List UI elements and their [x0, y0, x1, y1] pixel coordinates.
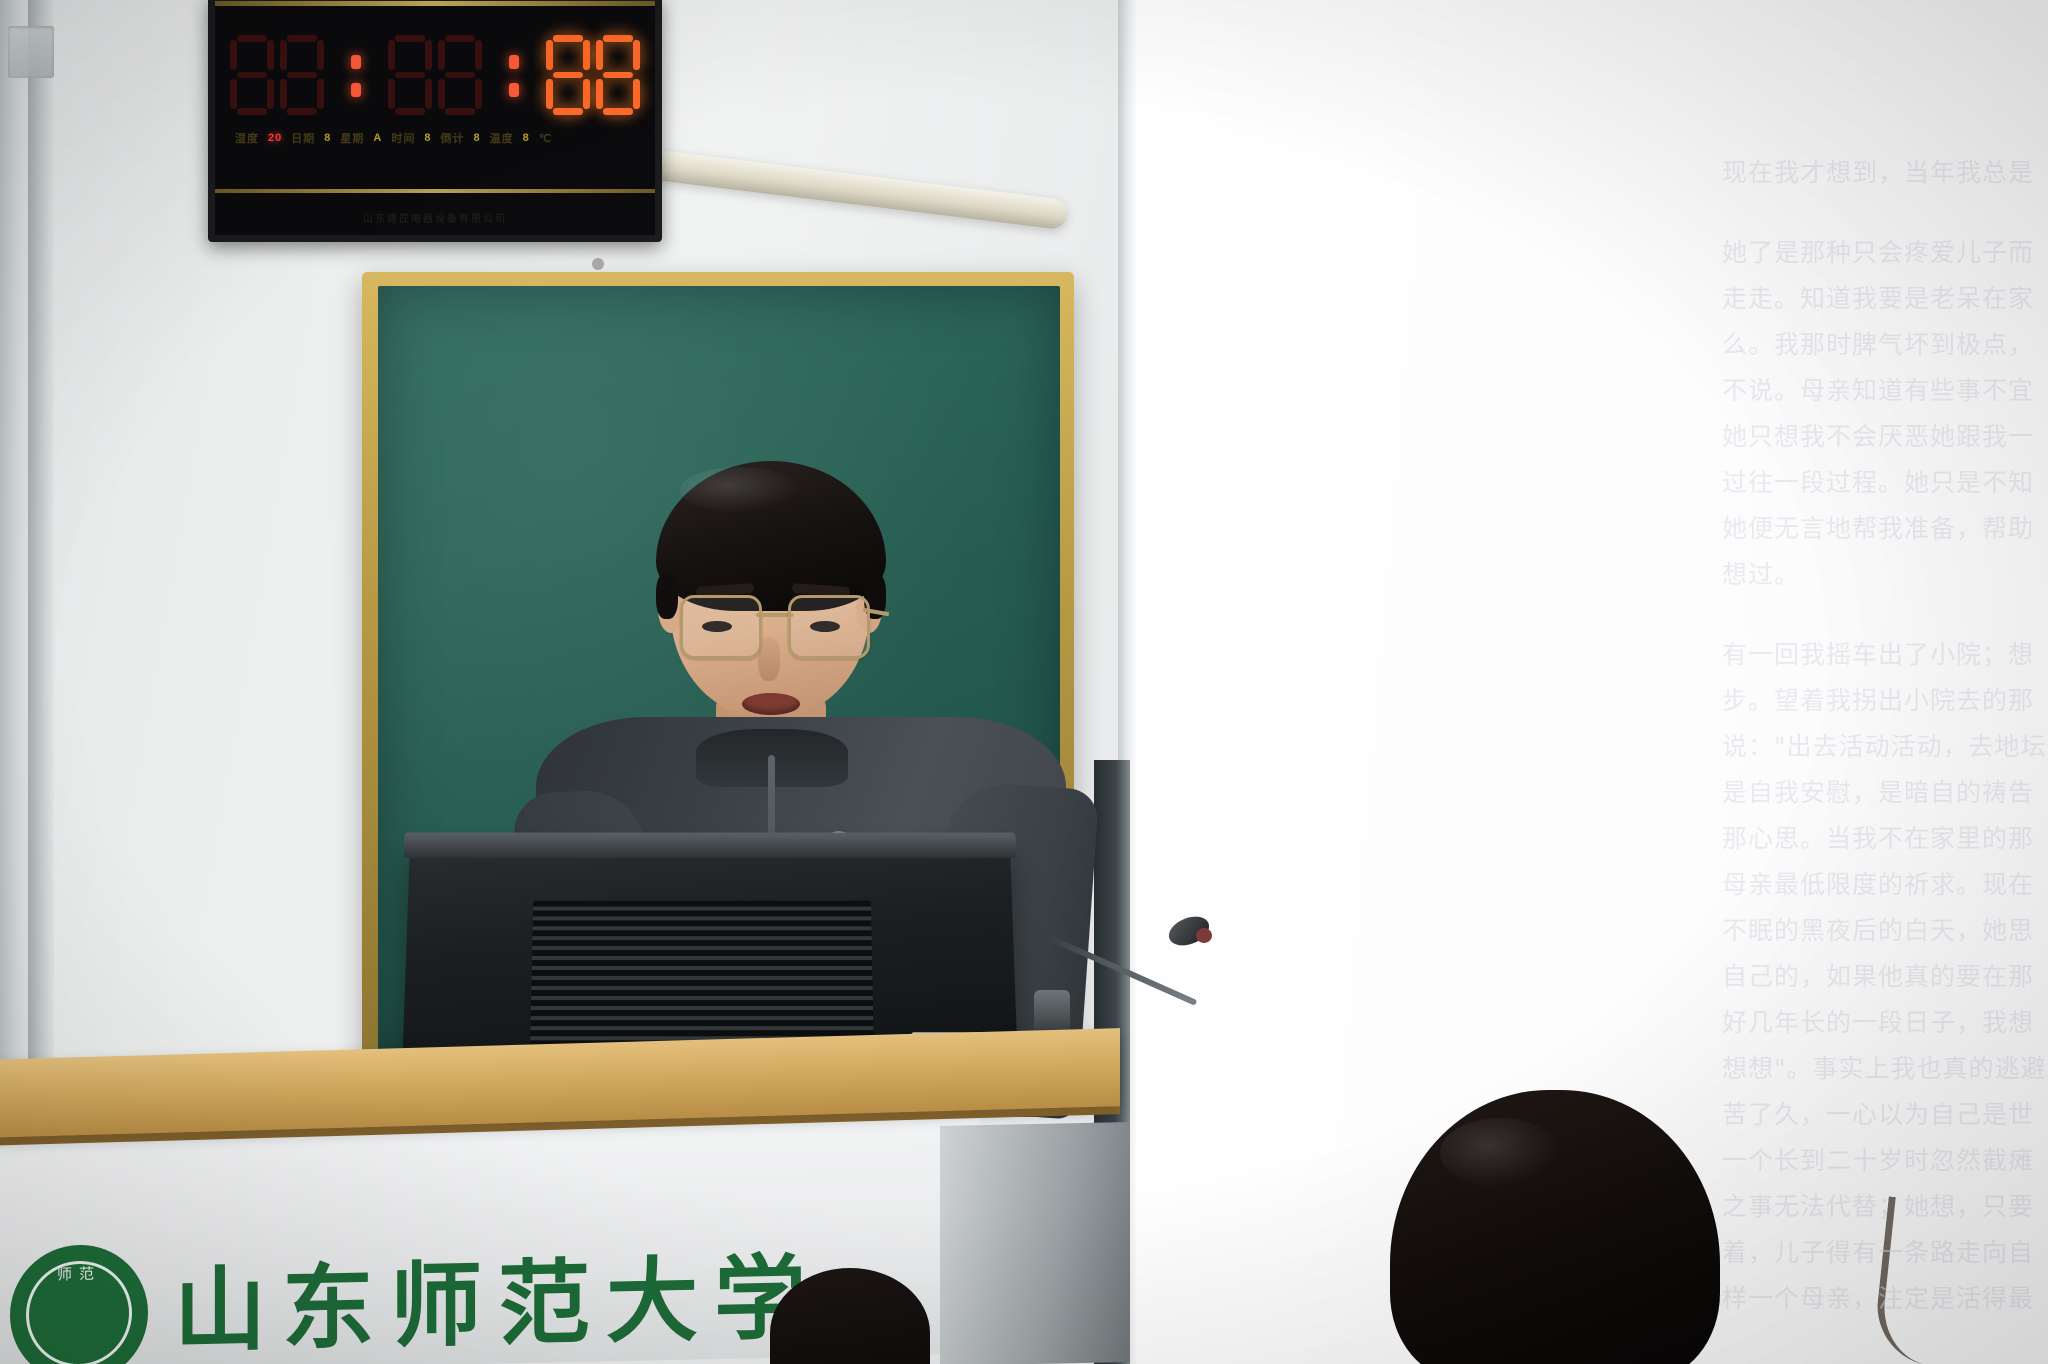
- clock-digit: [280, 35, 324, 115]
- led-wall-clock: 湿度 20 日期 8 星期 A 时间 8 倒计 8 温度 8 ℃ 山东建匠电器设…: [208, 0, 662, 242]
- clock-digit: [230, 35, 274, 115]
- clock-digit: [438, 35, 482, 115]
- clock-label-weekday: 星期: [340, 130, 364, 146]
- clock-colon-icon: [350, 35, 362, 115]
- projected-paragraph-2: 她了是那种只会疼爱儿子而走走。知道我要是老呆在家么。我那时脾气坏到极点，不说。母…: [1722, 230, 2048, 598]
- clock-value-humidity: 20: [268, 132, 282, 144]
- clock-unit-celsius: ℃: [539, 132, 552, 145]
- clock-value-temperature: 8: [523, 132, 530, 144]
- projected-paragraph-1: 现在我才想到，当年我总是: [1722, 150, 2048, 196]
- clock-label-humidity: 湿度: [235, 130, 259, 146]
- podium-side-panel: [940, 1122, 1130, 1364]
- monitor-vent-grille: [530, 901, 874, 1051]
- microphone-windscreen: [1196, 928, 1212, 943]
- clock-label-time: 时间: [391, 130, 415, 146]
- projected-essay-text: 现在我才想到，当年我总是 她了是那种只会疼爱儿子而走走。知道我要是老呆在家么。我…: [1722, 150, 2048, 1322]
- wall-trim-strip-shadow: [28, 0, 54, 1080]
- eyeglass-lens-right: [788, 595, 870, 659]
- clock-value-weekday: A: [373, 132, 382, 144]
- projected-paragraph-3: 有一回我摇车出了小院；想步。望着我拐出小院去的那说："出去活动活动，去地坛是自我…: [1722, 632, 2048, 1322]
- speaker-mouth: [742, 693, 800, 715]
- clock-manufacturer-text: 山东建匠电器设备有限公司: [215, 210, 655, 225]
- speaker-nose: [758, 637, 780, 681]
- clock-label-date: 日期: [291, 130, 315, 146]
- clock-digit: [388, 35, 432, 115]
- clock-digits-row: [215, 27, 655, 123]
- clock-minutes-group: [388, 35, 482, 115]
- classroom-photo-scene: 湿度 20 日期 8 星期 A 时间 8 倒计 8 温度 8 ℃ 山东建匠电器设…: [0, 0, 2048, 1364]
- clock-label-temperature: 温度: [490, 130, 514, 146]
- speaker-hair: [656, 461, 886, 611]
- clock-value-date: 8: [324, 132, 331, 144]
- clock-value-time: 8: [424, 132, 431, 144]
- university-seal-icon: 师范: [10, 1244, 148, 1364]
- speaker-sideburn-left: [656, 573, 678, 619]
- clock-hours-group: [230, 35, 324, 115]
- seal-text: 师范: [10, 1262, 148, 1286]
- eyeglass-lens-left: [680, 595, 762, 659]
- clock-digit: [546, 35, 590, 115]
- wall-outlet: [8, 26, 54, 78]
- clock-label-countdown: 倒计: [440, 130, 464, 146]
- wall-screw-icon: [592, 258, 604, 270]
- clock-digit: [596, 35, 640, 115]
- clock-seconds-group: [546, 35, 640, 115]
- clock-colon-icon-2: [508, 35, 520, 115]
- clock-value-countdown: 8: [473, 132, 480, 144]
- monitor-top-bezel: [404, 833, 1017, 858]
- audience-hair-highlight: [1440, 1118, 1560, 1188]
- clock-label-row: 湿度 20 日期 8 星期 A 时间 8 倒计 8 温度 8 ℃: [235, 127, 635, 149]
- university-name: 山东师范大学: [174, 1252, 822, 1358]
